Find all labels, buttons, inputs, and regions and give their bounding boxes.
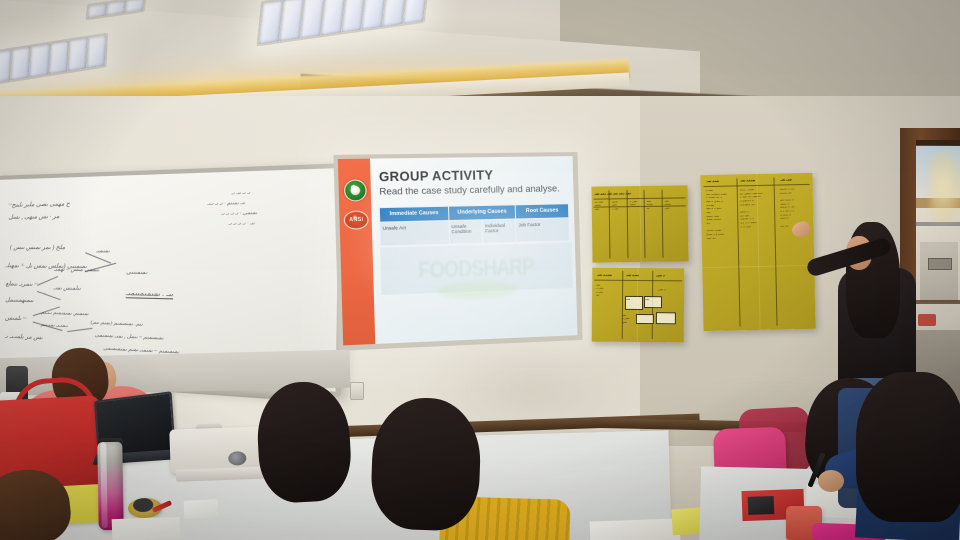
slide-subtitle: Read the case study carefully and analys…	[379, 183, 560, 196]
window-glare	[930, 150, 960, 224]
projection-screen: ANSI GROUP ACTIVITY Read the case study …	[333, 152, 582, 351]
whiteboard-note: مر · ىس مىهى , ىسل	[8, 213, 59, 221]
napkin	[184, 499, 219, 519]
whiteboard-note: ىىمرىـ ىىملع ~	[5, 280, 37, 288]
flipchart-right-large: ىمىـىـ ىمىـ ىمىـىـىـ ىمىـ ىمى ىمىـ ىمىـ …	[700, 173, 815, 331]
whiteboard-note: ىمىمىىىى	[126, 269, 147, 276]
whiteboard-note: ملح ( ىمر ىمىس ىىس )	[10, 244, 65, 251]
whiteboard-note: ىمىمىـ	[96, 248, 110, 254]
whiteboard-note: ىـ ىـ ىىـ ىـ	[231, 189, 250, 196]
outdoor-vehicle	[918, 314, 936, 326]
presentation-slide: ANSI GROUP ACTIVITY Read the case study …	[338, 156, 578, 345]
whiteboard-note: ىىلمىس ىمىـ	[54, 285, 81, 292]
causes-table: Immediate Causes Underlying Causes Root …	[379, 203, 570, 246]
outdoor-sign	[928, 258, 952, 270]
cell-unsafe-condition: Unsafe Condition	[449, 219, 483, 243]
navy-hand	[818, 470, 844, 492]
whiteboard-note: ىىمىهمىىىمل	[5, 296, 33, 304]
door-mid-rail	[916, 300, 960, 304]
paper-sheet	[112, 517, 181, 540]
paper-sheet-center	[590, 518, 681, 540]
whiteboard-note: ىس مر ىلمىـىـ ىـ	[5, 332, 43, 341]
slide-content: GROUP ACTIVITY Read the case study caref…	[374, 156, 577, 344]
table-header-root: Root Causes	[515, 204, 568, 219]
whiteboard-note: ىىـ · ىـ ىـ ىـ ىـ	[229, 220, 255, 227]
whiteboard-note: ىىم. ىمىمىمىم (ىمىم ىىم)	[91, 319, 143, 327]
whiteboard-note: ىمىمى · ىـ ىـ ىـ ىـ	[221, 210, 257, 217]
cell-individual-factor: Individual Factor	[482, 219, 516, 243]
whiteboard-note: ىىـ ىمىىم · ىـ ىـ ىـىـ	[207, 200, 245, 207]
ansi-logo-text: ANSI	[349, 217, 363, 224]
pink-ombre-tumbler	[97, 442, 124, 530]
table-row: Unsafe Act Unsafe Condition Individual F…	[380, 217, 570, 245]
flipchart-bottom-left: ىمىـىـىـ ىمىـ ىمىـىـ ىمىـ ىـ ىمى ىمىـ ىم…	[592, 268, 685, 343]
whiteboard-note: ىلمىس ~	[5, 314, 26, 322]
photo-scene: ~ح مهمى ىصى ملىر ىلمح مر · ىس مىهى , ىسل…	[0, 0, 960, 540]
door-header-bar	[916, 140, 960, 145]
navy-hair	[856, 372, 960, 522]
ansi-logo-icon: ANSI	[344, 210, 369, 229]
whiteboard-connector	[37, 291, 61, 300]
whiteboard-note: ىمىمىمىم ~ ىىمل , ىمىـ ىمىمىمى	[95, 332, 164, 341]
table-empty-area	[380, 242, 573, 295]
flipchart-top-left: ىـمىـ ىـمىـ ىمىـ ىمىـ ىـمىـ ىمىـ ىمىـ ىـ…	[591, 185, 688, 262]
cell-job-factor: Job Factor	[516, 217, 570, 241]
seated-person-head	[370, 396, 483, 532]
cell-unsafe-act: Unsafe Act	[380, 220, 449, 245]
whiteboard-note: ~ح مهمى ىصى ملىر ىلمح	[9, 200, 71, 208]
outdoor-building	[920, 242, 958, 302]
whiteboard-note: ىىـ . ىمىمىمىىمىـ	[126, 289, 174, 300]
slide-sidebar: ANSI	[338, 159, 375, 346]
slide-title: GROUP ACTIVITY	[379, 168, 494, 184]
whiteboard-connector	[67, 328, 92, 332]
wall-outlet	[350, 382, 364, 400]
green-seal-logo-icon	[344, 179, 367, 201]
